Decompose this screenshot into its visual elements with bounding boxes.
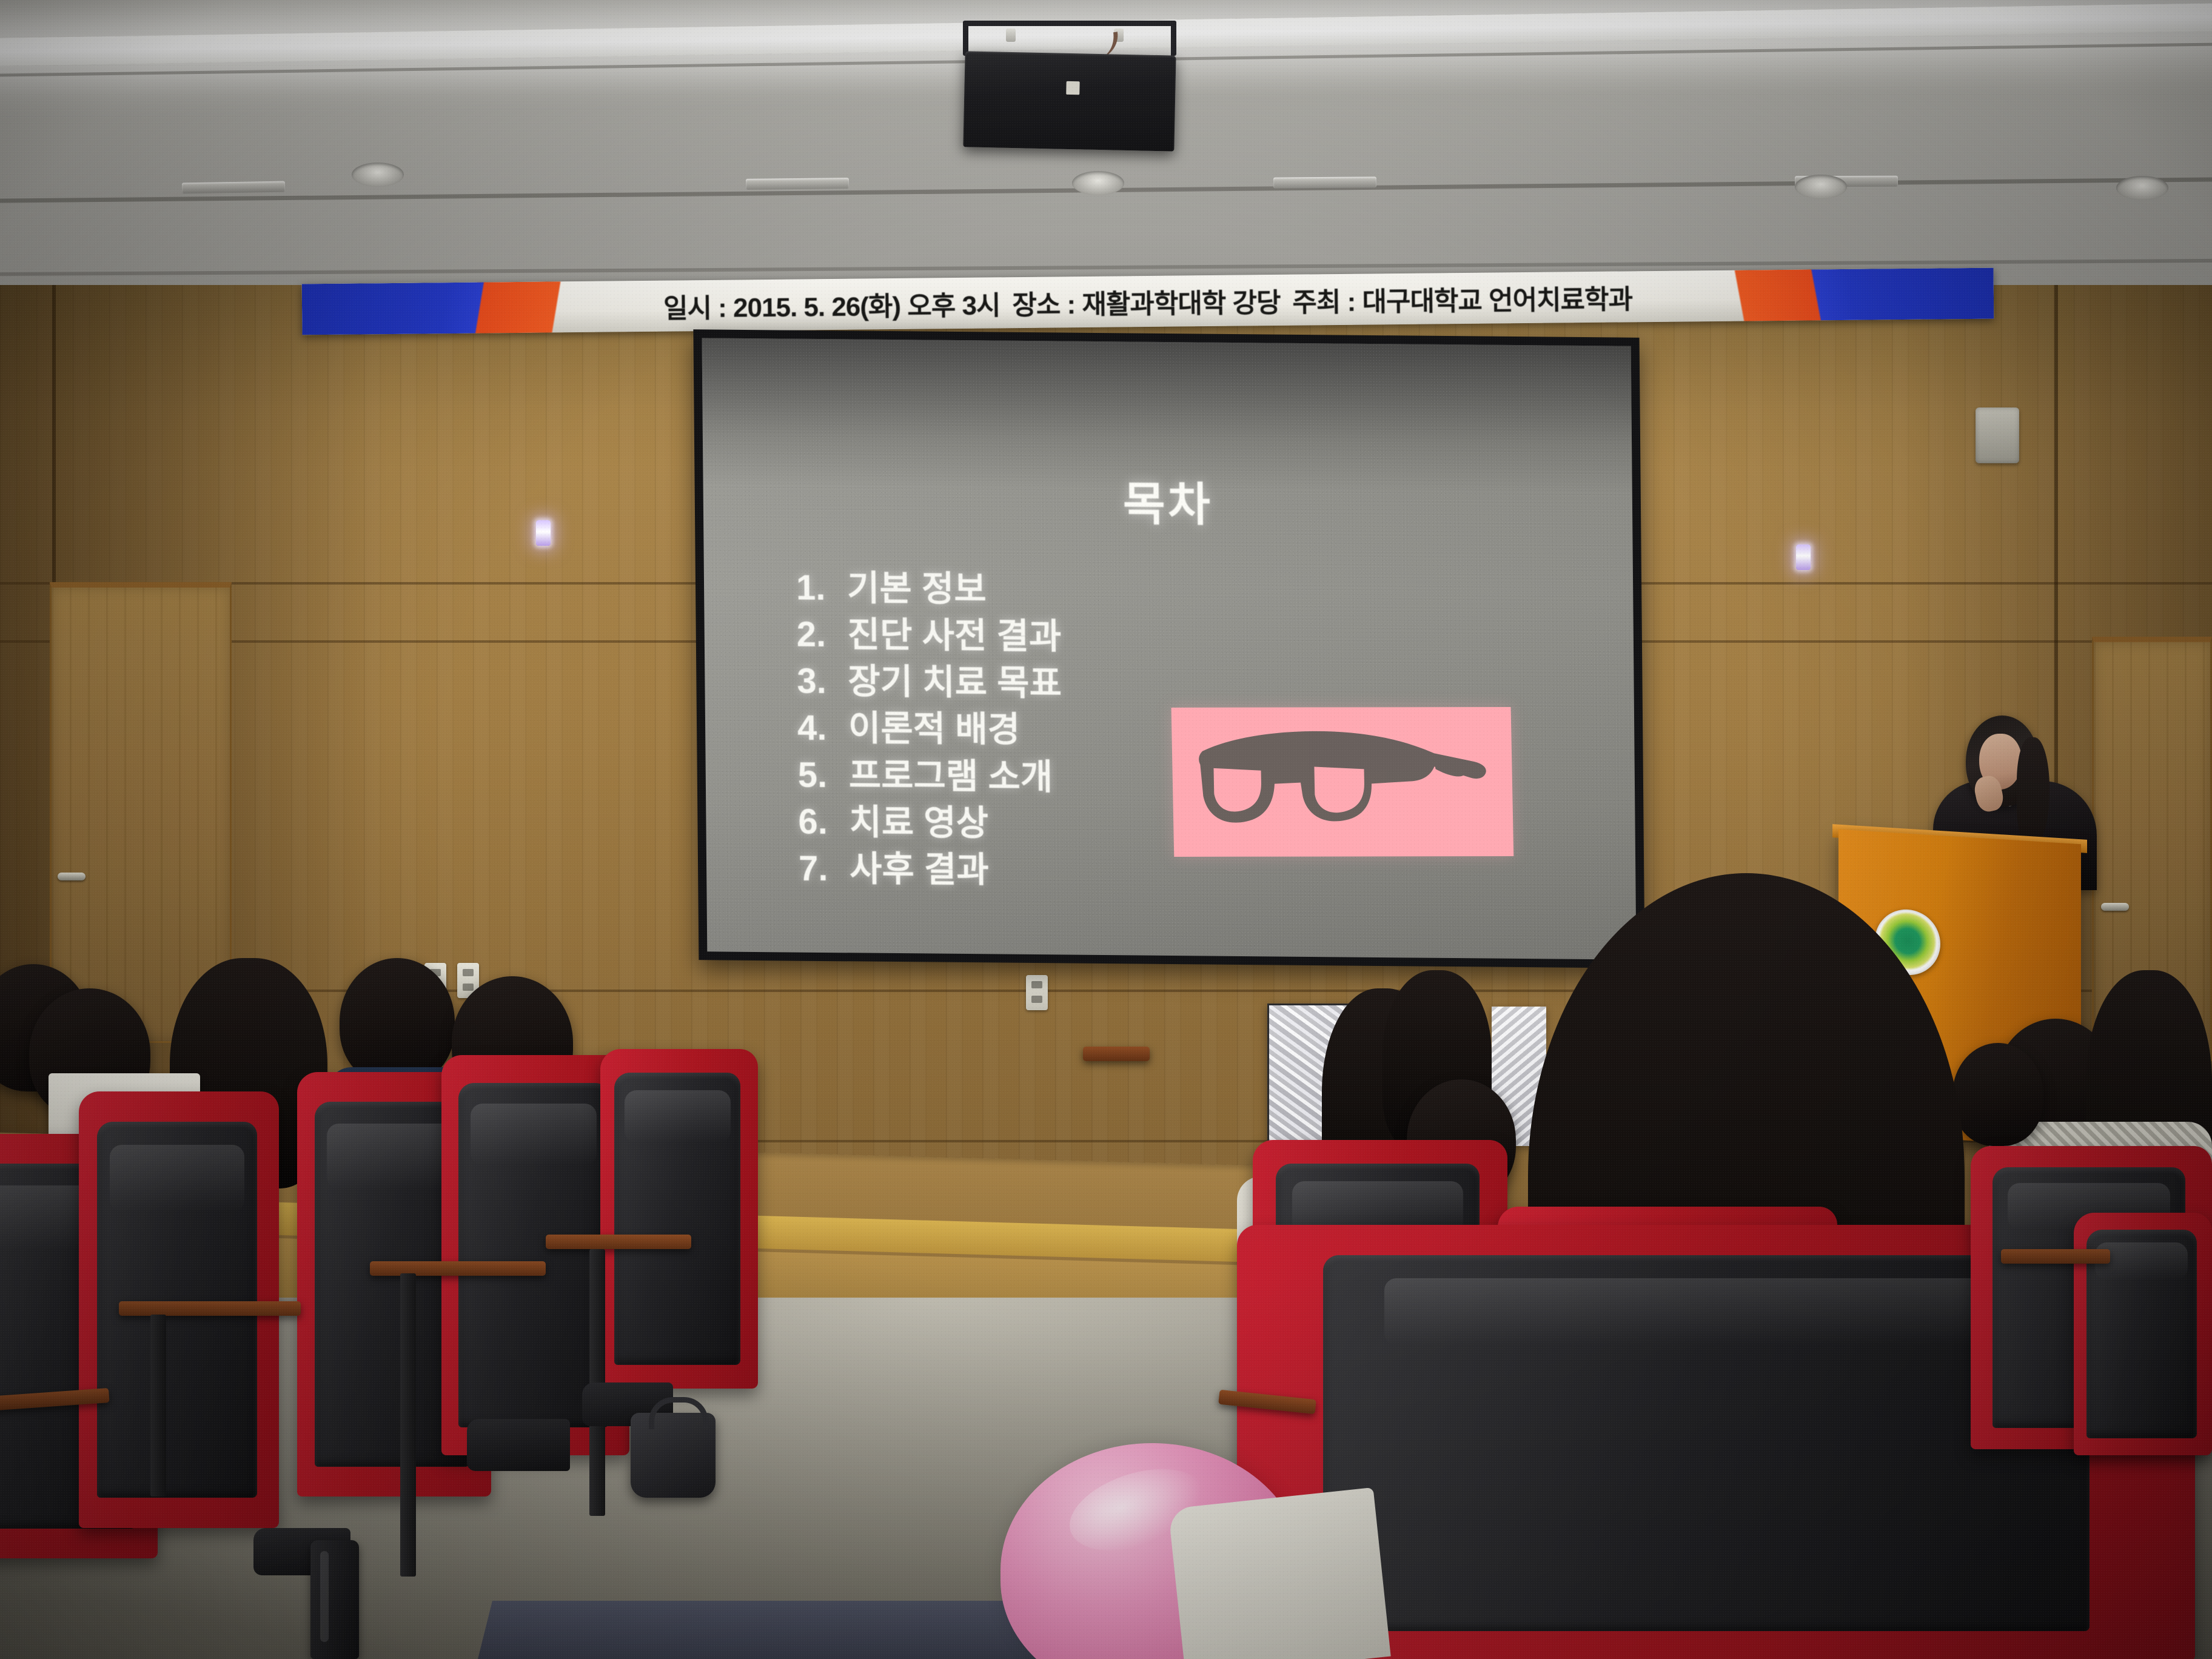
seat-leg <box>150 1315 166 1496</box>
slide-agenda-list: 1. 기본 정보 2. 진단 사전 결과 3. 장기 치료 목표 4. 이론적 … <box>796 565 1175 895</box>
seat[interactable] <box>600 1049 758 1389</box>
white-garment <box>1168 1487 1390 1659</box>
wall-indicator-light-left <box>536 520 551 546</box>
list-item: 4. 이론적 배경 <box>797 705 1174 755</box>
water-bottle <box>310 1540 359 1659</box>
eyeglasses-icon <box>1188 724 1496 840</box>
ceiling-vent <box>746 178 849 190</box>
audience-head <box>1952 1043 2043 1146</box>
banner-place-label: 장소 : 재활과학대학 강당 <box>1012 281 1281 322</box>
auditorium-photo: 일시 : 2015. 5. 26(화) 오후 3시 장소 : 재활과학대학 강당… <box>0 0 2212 1659</box>
projection-screen-frame: 목차 1. 기본 정보 2. 진단 사전 결과 3. 장기 치료 목표 4. 이… <box>693 329 1644 968</box>
ceiling-downlight <box>1072 171 1124 195</box>
list-item-number: 3. <box>797 658 831 705</box>
banner-graphic-right <box>1654 268 1994 322</box>
list-item-label: 프로그램 소개 <box>848 752 1053 800</box>
list-item-number: 5. <box>797 751 832 799</box>
audience-shoe <box>467 1419 570 1471</box>
seat-armrest <box>370 1261 546 1276</box>
list-item-number: 1. <box>796 565 831 612</box>
list-item-label: 장기 치료 목표 <box>848 659 1062 707</box>
slide-title: 목차 <box>703 463 1632 537</box>
list-item: 2. 진단 사전 결과 <box>796 611 1173 662</box>
list-item: 6. 치료 영상 <box>798 798 1175 848</box>
door-handle-icon[interactable] <box>58 873 85 880</box>
banner-text-row: 일시 : 2015. 5. 26(화) 오후 3시 장소 : 재활과학대학 강당… <box>642 271 1655 332</box>
ceiling-speaker-bracket <box>963 21 1176 56</box>
list-item-label: 기본 정보 <box>847 565 987 612</box>
ceiling-downlight <box>352 163 404 187</box>
wall-outlet-left <box>1026 975 1048 1010</box>
list-item-number: 6. <box>798 798 833 845</box>
wall-indicator-light-right <box>1796 545 1811 570</box>
ceiling-downlight <box>2116 176 2168 200</box>
ceiling-vent <box>1273 176 1376 188</box>
banner-host-label: 주최 : 대구대학교 언어치료학과 <box>1292 277 1632 319</box>
door-handle-icon[interactable] <box>2101 903 2129 911</box>
list-item-number: 7. <box>799 845 833 892</box>
list-item-number: 2. <box>796 611 831 659</box>
list-item-label: 치료 영상 <box>849 799 988 846</box>
ceiling-vent <box>182 181 285 194</box>
list-item: 5. 프로그램 소개 <box>797 751 1174 802</box>
list-item-label: 이론적 배경 <box>848 705 1021 754</box>
ceiling-downlight <box>1795 175 1847 199</box>
banner-date-label: 일시 : 2015. 5. 26(화) 오후 3시 <box>663 283 1000 325</box>
list-item-label: 진단 사전 결과 <box>847 612 1061 660</box>
projection-screen: 목차 1. 기본 정보 2. 진단 사전 결과 3. 장기 치료 목표 4. 이… <box>702 338 1636 959</box>
slide-image-card <box>1171 707 1514 857</box>
seat-armrest <box>2001 1249 2110 1264</box>
seat-armrest <box>546 1235 691 1249</box>
seat-armrest <box>119 1301 301 1316</box>
list-item: 1. 기본 정보 <box>796 565 1173 615</box>
list-item: 3. 장기 치료 목표 <box>797 658 1173 708</box>
ceiling-speaker <box>963 51 1176 151</box>
list-item: 7. 사후 결과 <box>799 845 1175 895</box>
speaker-badge <box>1066 81 1079 95</box>
handbag <box>631 1413 716 1498</box>
seat-armrest <box>1083 1047 1150 1061</box>
list-item-number: 4. <box>797 705 832 752</box>
banner-graphic-left <box>302 281 642 335</box>
list-item-label: 사후 결과 <box>850 845 989 893</box>
wall-control-box[interactable] <box>1976 407 2019 463</box>
seat-leg <box>400 1273 416 1577</box>
presenter-hair <box>2017 737 2049 846</box>
audience-head <box>340 958 455 1085</box>
